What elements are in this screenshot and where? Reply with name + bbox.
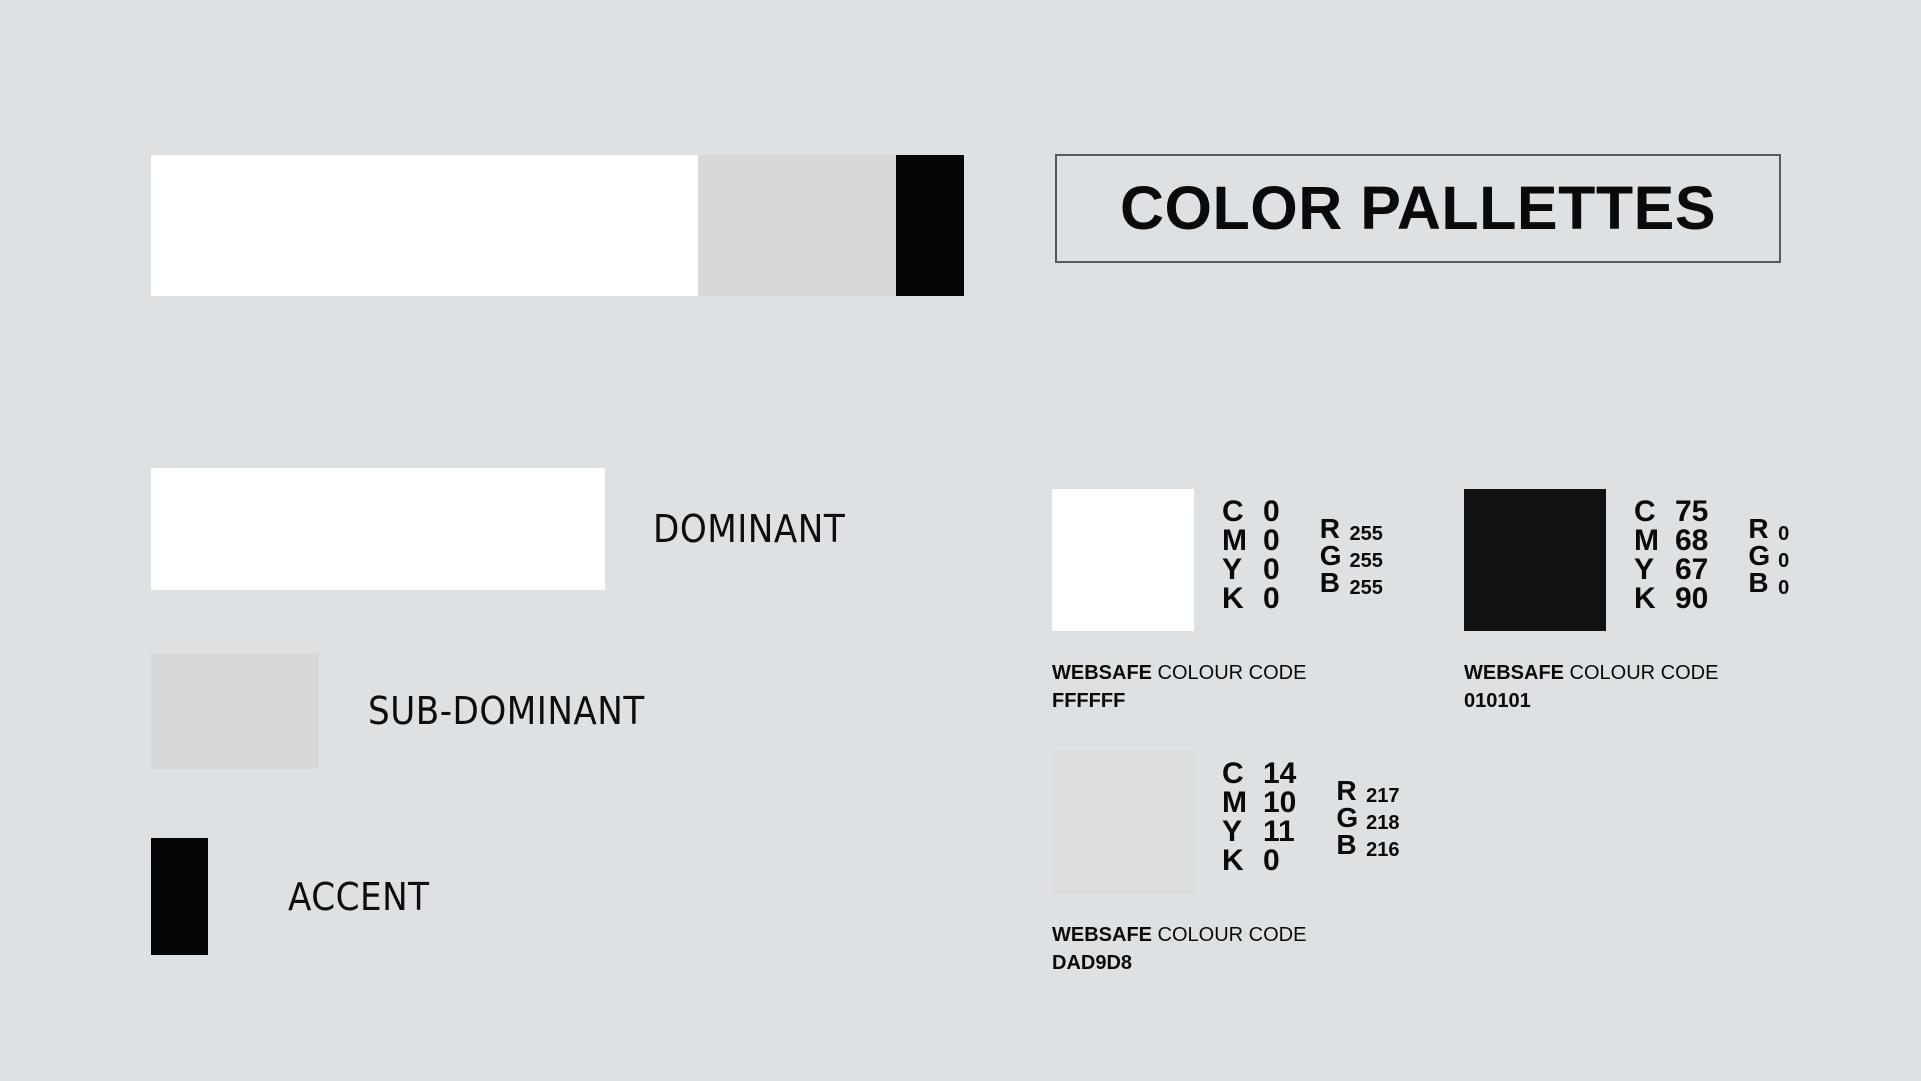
cmyk-letter-y: Y: [1634, 555, 1659, 584]
cmyk-letter-m: M: [1222, 788, 1247, 817]
swatch-color-chip-accent: [1464, 489, 1606, 631]
websafe-label-rest: COLOUR CODE: [1152, 924, 1306, 946]
swatch-values: C M Y K 0 0 0 0 R G: [1222, 489, 1383, 613]
websafe-block: WEBSAFE COLOUR CODE 010101: [1464, 659, 1894, 715]
legend-row-sub-dominant: SUB-DOMINANT: [151, 653, 645, 769]
rgb-value-g: 218: [1366, 810, 1399, 837]
cmyk-letter-y: Y: [1222, 817, 1247, 846]
websafe-label-strong: WEBSAFE: [1052, 924, 1152, 946]
rgb-letter-g: G: [1748, 542, 1770, 569]
cmyk-value-y: 0: [1263, 555, 1280, 584]
legend-swatch-accent: [151, 838, 208, 955]
rgb-value-b: 0: [1778, 575, 1789, 602]
cmyk-value-c: 0: [1263, 497, 1280, 526]
cmyk-values: 14 10 11 0: [1263, 759, 1296, 875]
rgb-letters: R G B: [1320, 515, 1342, 602]
swatch-card-dominant: C M Y K 0 0 0 0 R G: [1052, 489, 1482, 715]
rgb-value-r: 217: [1366, 783, 1399, 810]
legend-swatch-sub-dominant: [151, 653, 318, 769]
websafe-label: WEBSAFE COLOUR CODE: [1464, 659, 1894, 687]
cmyk-letter-k: K: [1222, 584, 1247, 613]
cmyk-letter-y: Y: [1222, 555, 1247, 584]
cmyk-value-y: 67: [1675, 555, 1708, 584]
cmyk-letter-m: M: [1222, 526, 1247, 555]
proportion-segment-sub-dominant: [698, 155, 896, 296]
rgb-letters: R G B: [1748, 515, 1770, 602]
rgb-letter-g: G: [1336, 804, 1358, 831]
cmyk-letter-m: M: [1634, 526, 1659, 555]
rgb-values: 255 255 255: [1349, 515, 1382, 602]
swatch-card-top: C M Y K 14 10 11 0 R G: [1052, 751, 1482, 893]
swatch-color-chip-dominant: [1052, 489, 1194, 631]
proportion-bar: [151, 155, 964, 296]
swatch-color-chip-sub-dominant: [1052, 751, 1194, 893]
rgb-letter-r: R: [1748, 515, 1770, 542]
palette-canvas: COLOR PALLETTES DOMINANT SUB-DOMINANT AC…: [0, 0, 1921, 1081]
cmyk-block: C M Y K 14 10 11 0: [1222, 759, 1296, 875]
cmyk-block: C M Y K 75 68 67 90: [1634, 497, 1708, 613]
cmyk-value-c: 14: [1263, 759, 1296, 788]
websafe-label: WEBSAFE COLOUR CODE: [1052, 659, 1482, 687]
websafe-label-rest: COLOUR CODE: [1152, 662, 1306, 684]
cmyk-value-c: 75: [1675, 497, 1708, 526]
rgb-value-g: 255: [1349, 548, 1382, 575]
cmyk-letter-c: C: [1222, 759, 1247, 788]
swatch-card-top: C M Y K 75 68 67 90 R G: [1464, 489, 1894, 631]
swatch-values: C M Y K 14 10 11 0 R G: [1222, 751, 1400, 875]
cmyk-letters: C M Y K: [1634, 497, 1659, 613]
proportion-segment-accent: [896, 155, 964, 296]
cmyk-letter-c: C: [1222, 497, 1247, 526]
rgb-values: 0 0 0: [1778, 515, 1789, 602]
cmyk-letter-k: K: [1222, 846, 1247, 875]
rgb-block: R G B 255 255 255: [1320, 497, 1383, 602]
cmyk-value-k: 0: [1263, 584, 1280, 613]
page-title: COLOR PALLETTES: [1120, 178, 1716, 239]
rgb-block: R G B 0 0 0: [1748, 497, 1789, 602]
cmyk-value-k: 0: [1263, 846, 1296, 875]
cmyk-value-k: 90: [1675, 584, 1708, 613]
cmyk-values: 75 68 67 90: [1675, 497, 1708, 613]
rgb-letter-b: B: [1336, 831, 1358, 858]
cmyk-letters: C M Y K: [1222, 759, 1247, 875]
page-title-box: COLOR PALLETTES: [1055, 154, 1781, 263]
rgb-letter-b: B: [1748, 569, 1770, 596]
rgb-letter-g: G: [1320, 542, 1342, 569]
websafe-label-strong: WEBSAFE: [1052, 662, 1152, 684]
rgb-letters: R G B: [1336, 777, 1358, 864]
cmyk-value-m: 68: [1675, 526, 1708, 555]
legend-row-dominant: DOMINANT: [151, 468, 845, 590]
websafe-code: 010101: [1464, 687, 1894, 715]
legend-row-accent: ACCENT: [151, 838, 430, 955]
cmyk-value-m: 10: [1263, 788, 1296, 817]
cmyk-letters: C M Y K: [1222, 497, 1247, 613]
rgb-block: R G B 217 218 216: [1336, 759, 1399, 864]
rgb-letter-r: R: [1320, 515, 1342, 542]
swatch-card-accent: C M Y K 75 68 67 90 R G: [1464, 489, 1894, 715]
websafe-label-strong: WEBSAFE: [1464, 662, 1564, 684]
cmyk-value-m: 0: [1263, 526, 1280, 555]
legend-label-dominant: DOMINANT: [653, 507, 845, 551]
rgb-letter-b: B: [1320, 569, 1342, 596]
websafe-code: FFFFFF: [1052, 687, 1482, 715]
websafe-code: DAD9D8: [1052, 949, 1482, 977]
legend-label-accent: ACCENT: [288, 875, 430, 919]
cmyk-letter-c: C: [1634, 497, 1659, 526]
websafe-block: WEBSAFE COLOUR CODE FFFFFF: [1052, 659, 1482, 715]
cmyk-letter-k: K: [1634, 584, 1659, 613]
rgb-values: 217 218 216: [1366, 777, 1399, 864]
rgb-value-b: 216: [1366, 837, 1399, 864]
rgb-value-r: 0: [1778, 521, 1789, 548]
websafe-label-rest: COLOUR CODE: [1564, 662, 1718, 684]
rgb-value-b: 255: [1349, 575, 1382, 602]
rgb-value-g: 0: [1778, 548, 1789, 575]
websafe-block: WEBSAFE COLOUR CODE DAD9D8: [1052, 921, 1482, 977]
swatch-values: C M Y K 75 68 67 90 R G: [1634, 489, 1789, 613]
swatch-card-top: C M Y K 0 0 0 0 R G: [1052, 489, 1482, 631]
cmyk-block: C M Y K 0 0 0 0: [1222, 497, 1280, 613]
swatch-card-sub-dominant: C M Y K 14 10 11 0 R G: [1052, 751, 1482, 977]
cmyk-values: 0 0 0 0: [1263, 497, 1280, 613]
websafe-label: WEBSAFE COLOUR CODE: [1052, 921, 1482, 949]
rgb-value-r: 255: [1349, 521, 1382, 548]
legend-swatch-dominant: [151, 468, 605, 590]
rgb-letter-r: R: [1336, 777, 1358, 804]
cmyk-value-y: 11: [1263, 817, 1296, 846]
proportion-segment-dominant: [151, 155, 698, 296]
legend-label-sub-dominant: SUB-DOMINANT: [368, 689, 645, 733]
